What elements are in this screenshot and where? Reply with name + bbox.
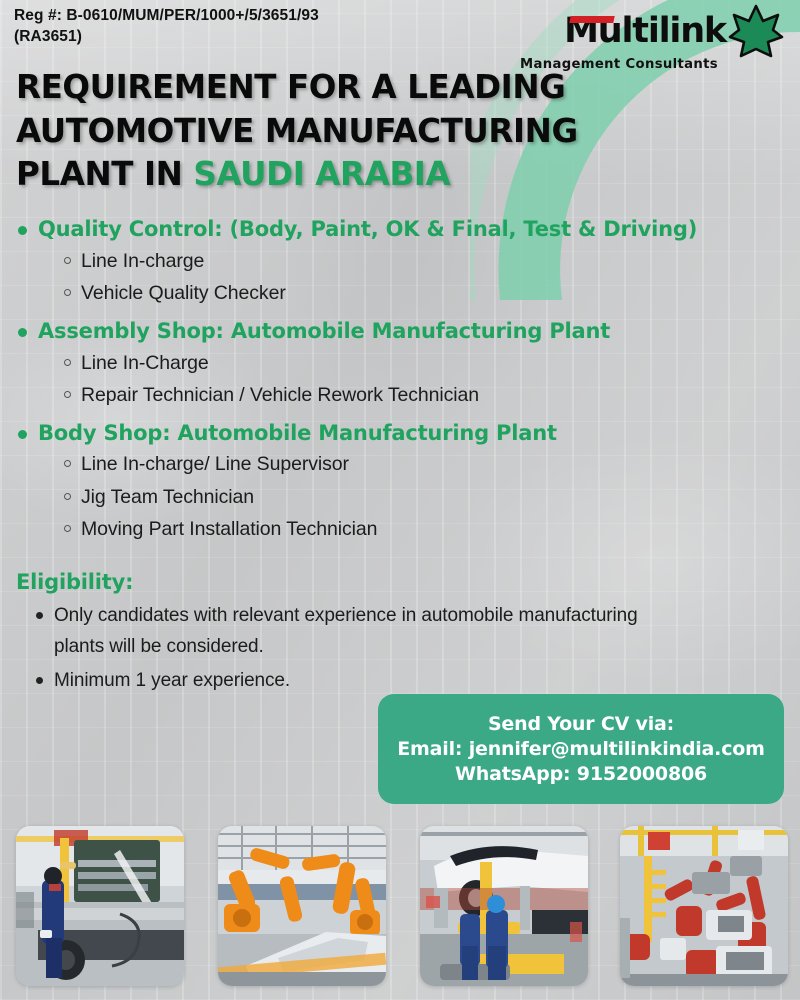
role-label: Repair Technician / Vehicle Rework Techn… <box>81 381 479 409</box>
reg-line-1: Reg #: B-0610/MUM/PER/1000+/5/3651/93 <box>14 6 319 27</box>
role-label: Line In-charge <box>81 247 204 275</box>
role-label: Vehicle Quality Checker <box>81 279 286 307</box>
role-label: Line In-Charge <box>81 349 209 377</box>
job-category-assembly-shop: Assembly Shop: Automobile Manufacturing … <box>18 317 738 410</box>
job-role-item: Line In-charge <box>64 247 738 275</box>
job-role-item: Line In-charge/ Line Supervisor <box>64 450 738 478</box>
job-role-item: Repair Technician / Vehicle Rework Techn… <box>64 381 738 409</box>
job-category-body-shop: Body Shop: Automobile Manufacturing Plan… <box>18 419 738 544</box>
company-logo: Multilink Management Consultants <box>519 4 784 72</box>
job-category-quality-control: Quality Control: (Body, Paint, OK & Fina… <box>18 215 738 308</box>
role-bullet-icon <box>64 391 71 398</box>
contact-whatsapp[interactable]: WhatsApp: 9152000806 <box>455 763 707 785</box>
eligibility-text: Only candidates with relevant experience… <box>54 601 656 663</box>
headline-line-1: REQUIREMENT FOR A LEADING <box>16 66 656 110</box>
category-title: Assembly Shop: Automobile Manufacturing … <box>38 317 610 347</box>
eligibility-title: Eligibility: <box>16 570 656 594</box>
photo-car-on-lift <box>420 826 588 986</box>
category-title: Body Shop: Automobile Manufacturing Plan… <box>38 419 557 449</box>
photo-strip <box>0 826 800 986</box>
contact-cta-box: Send Your CV via: Email: jennifer@multil… <box>378 694 784 804</box>
eligibility-text: Minimum 1 year experience. <box>54 666 290 697</box>
role-bullet-icon <box>64 493 71 500</box>
contact-email[interactable]: Email: jennifer@multilinkindia.com <box>397 738 764 760</box>
category-bullet-icon <box>18 328 27 337</box>
registration-number: Reg #: B-0610/MUM/PER/1000+/5/3651/93 (R… <box>14 6 319 48</box>
photo-red-robot-line <box>620 826 788 986</box>
job-role-item: Moving Part Installation Technician <box>64 515 738 543</box>
headline-line-3: PLANT IN SAUDI ARABIA <box>16 153 656 197</box>
headline-line-2: AUTOMOTIVE MANUFACTURING <box>16 110 656 154</box>
photo-orange-robot-arms <box>218 826 386 986</box>
contact-heading: Send Your CV via: <box>488 713 674 735</box>
role-label: Jig Team Technician <box>81 483 254 511</box>
role-label: Moving Part Installation Technician <box>81 515 377 543</box>
category-bullet-icon <box>18 226 27 235</box>
eight-point-star-icon <box>728 4 784 58</box>
role-bullet-icon <box>64 257 71 264</box>
role-bullet-icon <box>64 289 71 296</box>
eligibility-bullet-icon <box>36 677 43 684</box>
eligibility-bullet-icon <box>36 612 43 619</box>
photo-worker-truck-assembly <box>16 826 184 986</box>
logo-wordmark: Multilink <box>564 14 726 49</box>
eligibility-item: Minimum 1 year experience. <box>16 666 656 697</box>
page-title: REQUIREMENT FOR A LEADING AUTOMOTIVE MAN… <box>16 66 656 197</box>
reg-line-2: (RA3651) <box>14 27 319 48</box>
job-role-item: Vehicle Quality Checker <box>64 279 738 307</box>
job-categories-list: Quality Control: (Body, Paint, OK & Fina… <box>18 215 738 553</box>
category-bullet-icon <box>18 430 27 439</box>
eligibility-section: Eligibility: Only candidates with releva… <box>16 570 656 699</box>
category-title: Quality Control: (Body, Paint, OK & Fina… <box>38 215 697 245</box>
headline-prefix: PLANT IN <box>16 155 193 193</box>
eligibility-item: Only candidates with relevant experience… <box>16 601 656 663</box>
role-bullet-icon <box>64 460 71 467</box>
job-role-item: Jig Team Technician <box>64 483 738 511</box>
role-bullet-icon <box>64 359 71 366</box>
role-label: Line In-charge/ Line Supervisor <box>81 450 349 478</box>
headline-country-highlight: SAUDI ARABIA <box>193 155 450 193</box>
role-bullet-icon <box>64 525 71 532</box>
job-role-item: Line In-Charge <box>64 349 738 377</box>
